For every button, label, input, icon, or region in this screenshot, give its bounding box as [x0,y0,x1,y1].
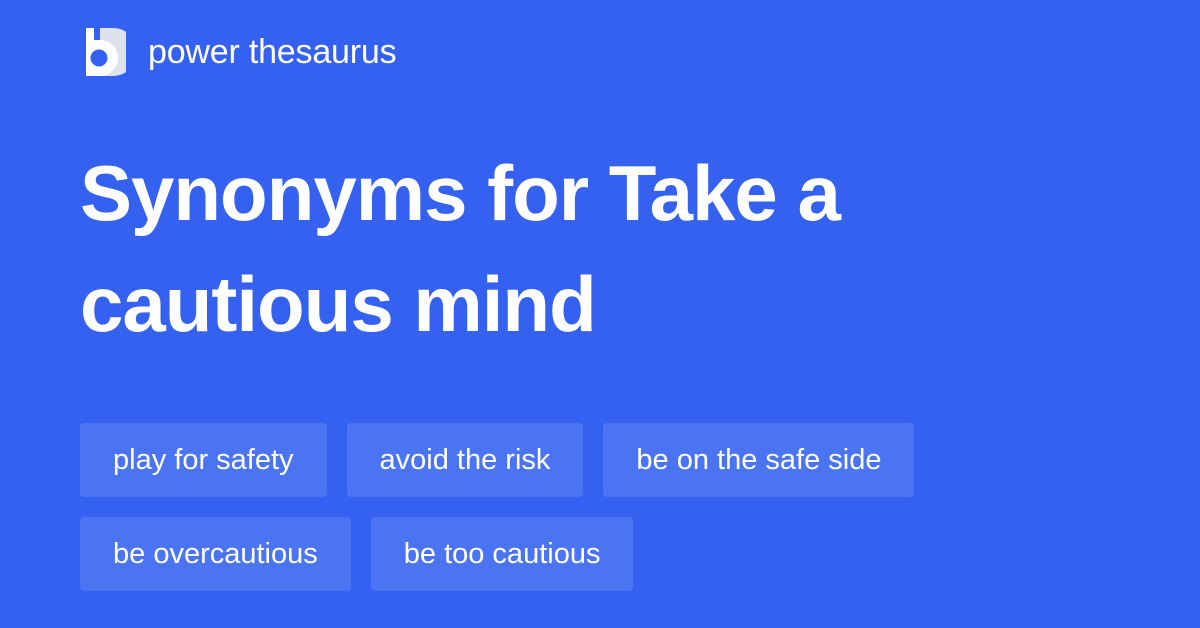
synonym-chip[interactable]: be on the safe side [603,423,914,497]
power-thesaurus-b-logo-icon [80,28,126,76]
brand-name: power thesaurus [148,35,396,69]
share-card: power thesaurus Synonyms for Take a caut… [0,0,1200,628]
page-title: Synonyms for Take a cautious mind [80,138,1100,360]
brand-header[interactable]: power thesaurus [80,28,396,76]
synonym-chip-list: play for safety avoid the risk be on the… [80,423,1140,591]
synonym-chip[interactable]: play for safety [80,423,327,497]
synonym-chip[interactable]: be too cautious [371,517,634,591]
synonym-chip[interactable]: avoid the risk [347,423,584,497]
synonym-chip[interactable]: be overcautious [80,517,351,591]
